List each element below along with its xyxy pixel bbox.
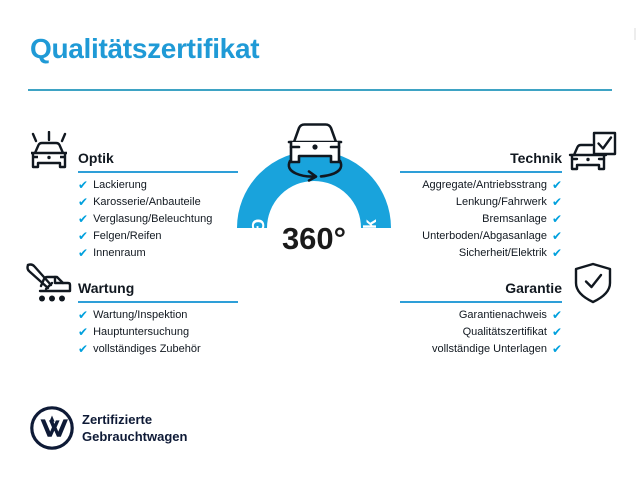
check-icon: ✔ xyxy=(552,307,562,324)
list-item: Bremsanlage✔ xyxy=(400,211,562,228)
list-item: ✔Felgen/Reifen xyxy=(78,228,238,245)
check-icon: ✔ xyxy=(552,228,562,245)
check-icon: ✔ xyxy=(552,324,562,341)
certificate-page: Qualitätszertifikat Optik ✔Lackierung xyxy=(0,0,640,480)
footer-line-1: Zertifizierte xyxy=(82,411,187,428)
list-item-label: vollständiges Zubehör xyxy=(93,341,201,358)
footer-line-2: Gebrauchtwagen xyxy=(82,428,187,445)
list-item-label: Sicherheit/Elektrik xyxy=(459,245,547,262)
car-rotating-360-icon xyxy=(276,114,354,182)
list-item: Lenkung/Fahrwerk✔ xyxy=(400,194,562,211)
list-item: Sicherheit/Elektrik✔ xyxy=(400,245,562,262)
badge-number: 360° xyxy=(228,221,400,257)
car-front-shine-icon xyxy=(24,131,74,182)
section-technik-list: Aggregate/Antriebsstrang✔ Lenkung/Fahrwe… xyxy=(400,177,562,262)
section-wartung-header: Wartung xyxy=(78,273,238,297)
wrench-car-service-icon xyxy=(24,261,74,312)
check-icon: ✔ xyxy=(78,245,88,262)
list-item-label: Garantienachweis xyxy=(459,307,547,324)
list-item: ✔vollständiges Zubehör xyxy=(78,341,238,358)
list-item: vollständige Unterlagen✔ xyxy=(400,341,562,358)
list-item: Qualitätszertifikat✔ xyxy=(400,324,562,341)
list-item-label: Unterboden/Abgasanlage xyxy=(422,228,547,245)
vw-logo-icon xyxy=(30,406,74,455)
list-item: ✔Lackierung xyxy=(78,177,238,194)
section-garantie: Garantie Garantienachweis✔ Qualitätszert… xyxy=(400,273,562,297)
section-garantie-list: Garantienachweis✔ Qualitätszertifikat✔ v… xyxy=(400,307,562,358)
corner-mark xyxy=(634,28,636,40)
section-optik-divider xyxy=(78,171,238,173)
check-icon: ✔ xyxy=(78,228,88,245)
section-garantie-title: Garantie xyxy=(505,280,562,296)
list-item-label: Bremsanlage xyxy=(482,211,547,228)
badge-360-gebrauchtwagen-check: Gebrauchtwagen-Check xyxy=(228,128,400,300)
list-item-label: Qualitätszertifikat xyxy=(463,324,547,341)
section-wartung-divider xyxy=(78,301,238,303)
list-item: ✔Verglasung/Beleuchtung xyxy=(78,211,238,228)
section-wartung: Wartung ✔Wartung/Inspektion ✔Hauptunters… xyxy=(78,273,238,297)
check-icon: ✔ xyxy=(78,307,88,324)
section-technik: Technik Aggregate/Antriebsstrang✔ Lenkun… xyxy=(400,143,562,167)
footer-brand-text: Zertifizierte Gebrauchtwagen xyxy=(82,411,187,445)
section-technik-divider xyxy=(400,171,562,173)
check-icon: ✔ xyxy=(78,211,88,228)
list-item: ✔Wartung/Inspektion xyxy=(78,307,238,324)
section-optik: Optik ✔Lackierung ✔Karosserie/Anbauteile… xyxy=(78,143,238,167)
section-garantie-header: Garantie xyxy=(400,273,562,297)
list-item: ✔Karosserie/Anbauteile xyxy=(78,194,238,211)
shield-check-icon xyxy=(570,261,616,312)
list-item-label: Karosserie/Anbauteile xyxy=(93,194,201,211)
list-item-label: Aggregate/Antriebsstrang xyxy=(422,177,547,194)
section-wartung-title: Wartung xyxy=(78,280,134,296)
check-icon: ✔ xyxy=(552,194,562,211)
section-garantie-divider xyxy=(400,301,562,303)
car-front-checkbox-icon xyxy=(566,131,618,182)
check-icon: ✔ xyxy=(552,245,562,262)
check-icon: ✔ xyxy=(78,324,88,341)
list-item-label: Wartung/Inspektion xyxy=(93,307,187,324)
list-item-label: Lackierung xyxy=(93,177,147,194)
check-icon: ✔ xyxy=(552,177,562,194)
check-icon: ✔ xyxy=(552,211,562,228)
list-item-label: Verglasung/Beleuchtung xyxy=(93,211,212,228)
section-technik-header: Technik xyxy=(400,143,562,167)
list-item-label: Felgen/Reifen xyxy=(93,228,162,245)
title-divider xyxy=(28,89,612,91)
list-item-label: Hauptuntersuchung xyxy=(93,324,189,341)
list-item-label: Lenkung/Fahrwerk xyxy=(456,194,547,211)
list-item: ✔Hauptuntersuchung xyxy=(78,324,238,341)
section-optik-header: Optik xyxy=(78,143,238,167)
list-item: Garantienachweis✔ xyxy=(400,307,562,324)
check-icon: ✔ xyxy=(552,341,562,358)
list-item: ✔Innenraum xyxy=(78,245,238,262)
list-item-label: vollständige Unterlagen xyxy=(432,341,547,358)
list-item: Unterboden/Abgasanlage✔ xyxy=(400,228,562,245)
section-technik-title: Technik xyxy=(510,150,562,166)
section-wartung-list: ✔Wartung/Inspektion ✔Hauptuntersuchung ✔… xyxy=(78,307,238,358)
check-icon: ✔ xyxy=(78,177,88,194)
check-icon: ✔ xyxy=(78,341,88,358)
list-item: Aggregate/Antriebsstrang✔ xyxy=(400,177,562,194)
page-title: Qualitätszertifikat xyxy=(30,30,259,68)
section-optik-title: Optik xyxy=(78,150,114,166)
list-item-label: Innenraum xyxy=(93,245,146,262)
section-optik-list: ✔Lackierung ✔Karosserie/Anbauteile ✔Verg… xyxy=(78,177,238,262)
check-icon: ✔ xyxy=(78,194,88,211)
